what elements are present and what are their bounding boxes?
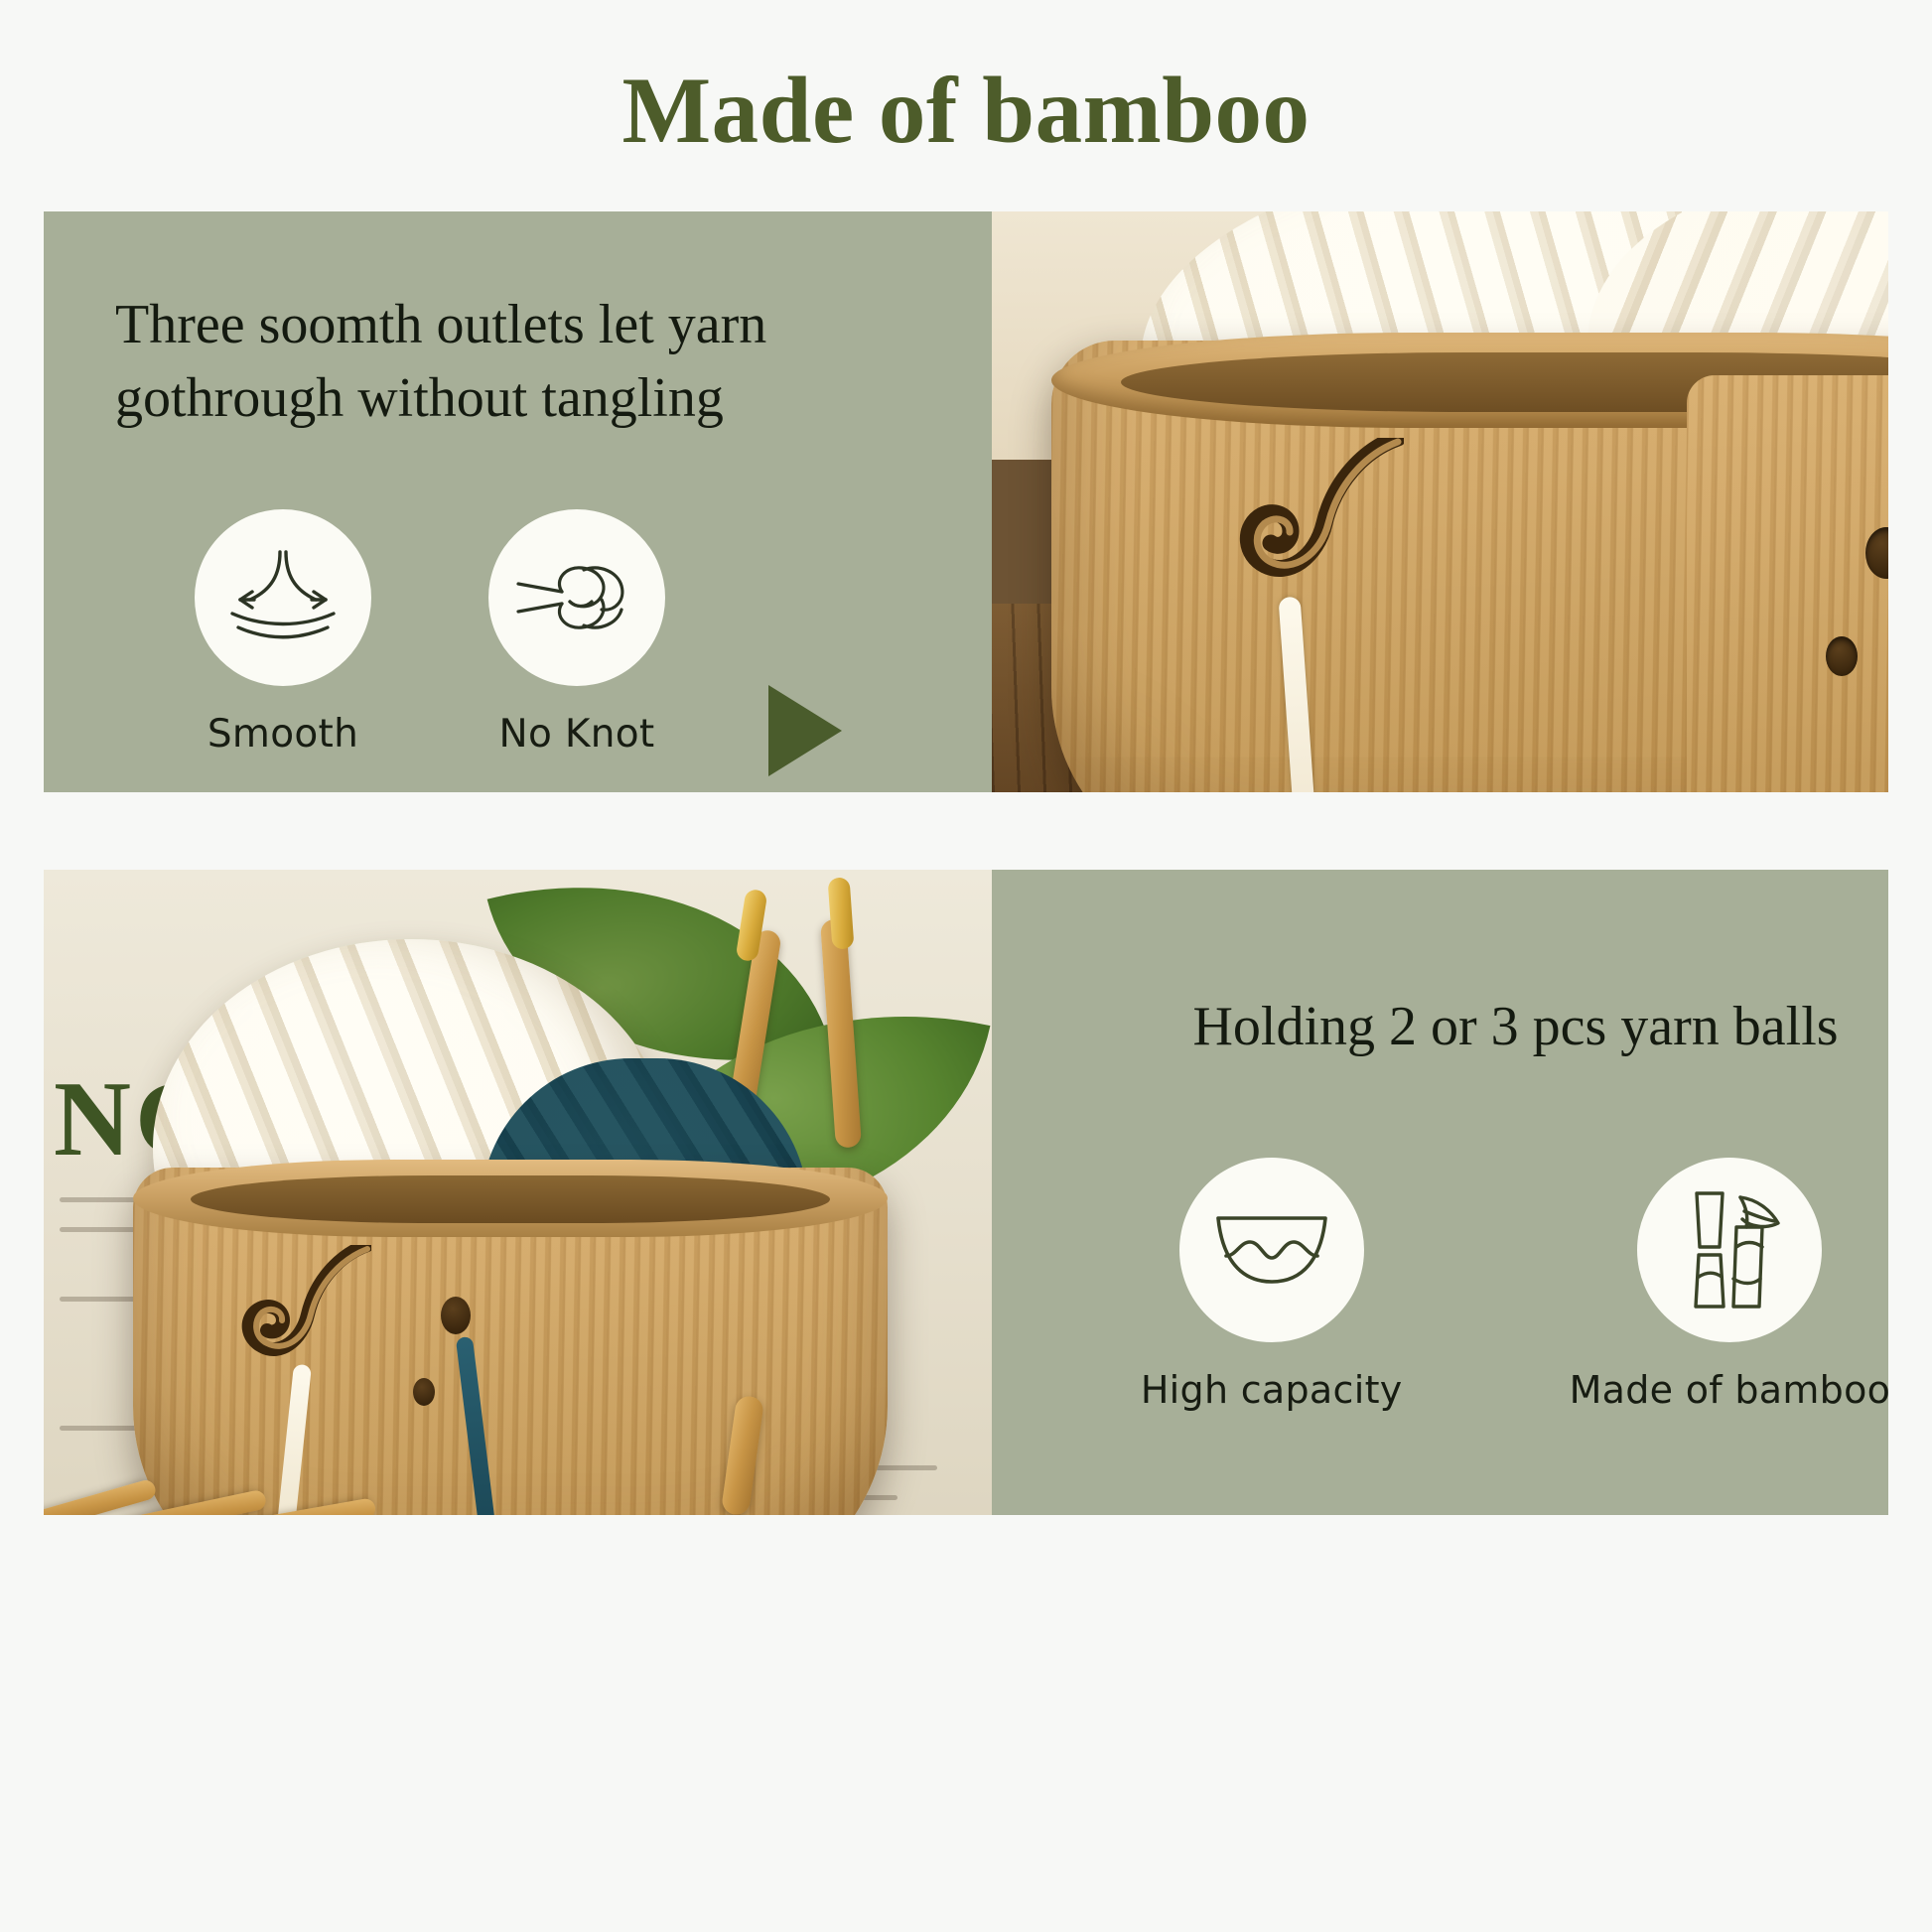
crochet-hook <box>721 1395 764 1515</box>
badge-made-of-bamboo: Made of bamboo <box>1570 1158 1888 1412</box>
panel-1-badge-group: Smooth No Knot <box>195 509 665 757</box>
panel-2-scene: NG <box>44 870 992 1515</box>
badge-no-knot: No Knot <box>488 509 665 757</box>
bamboo-bowl-interior-shadow <box>191 1175 830 1223</box>
badge-high-capacity: High capacity <box>1141 1158 1403 1412</box>
smooth-fabric-icon <box>195 509 371 686</box>
bowl-icon <box>1179 1158 1364 1342</box>
panel-2-product-photo: NG <box>44 870 992 1515</box>
panel-1-text-half: Three soomth outlets let yarn gothrough … <box>44 211 992 792</box>
panel-2-headline: Holding 2 or 3 pcs yarn balls <box>992 991 1888 1064</box>
panel-2-badge-group: High capacity Made o <box>992 1158 1888 1412</box>
bamboo-stalk-icon <box>1637 1158 1822 1342</box>
bowl-hole-upper <box>441 1297 471 1334</box>
badge-smooth: Smooth <box>195 509 371 757</box>
badge-no-knot-label: No Knot <box>499 712 655 757</box>
badge-made-of-bamboo-label: Made of bamboo <box>1570 1368 1888 1412</box>
scattered-crochet-hooks <box>44 1406 992 1515</box>
panel-2-text-half: Holding 2 or 3 pcs yarn balls High capac… <box>992 870 1888 1515</box>
feature-panel-capacity: NG <box>44 870 1888 1515</box>
badge-smooth-label: Smooth <box>207 712 358 757</box>
panel-1-headline: Three soomth outlets let yarn gothrough … <box>115 289 929 436</box>
page-title: Made of bamboo <box>0 58 1932 163</box>
crochet-hook <box>44 1478 158 1515</box>
bamboo-bowl-front-wall <box>1687 375 1888 792</box>
feature-panel-outlets: Three soomth outlets let yarn gothrough … <box>44 211 1888 792</box>
panel-1-scene <box>992 211 1888 792</box>
panel-1-product-photo <box>992 211 1888 792</box>
bowl-hole-lower <box>1826 636 1858 676</box>
yarn-outlet-swirl <box>1215 438 1404 626</box>
badge-high-capacity-label: High capacity <box>1141 1368 1403 1412</box>
pointer-arrow-panel-1 <box>768 685 842 776</box>
rope-knot-icon <box>488 509 665 686</box>
bowl-hole-lower <box>413 1378 435 1406</box>
